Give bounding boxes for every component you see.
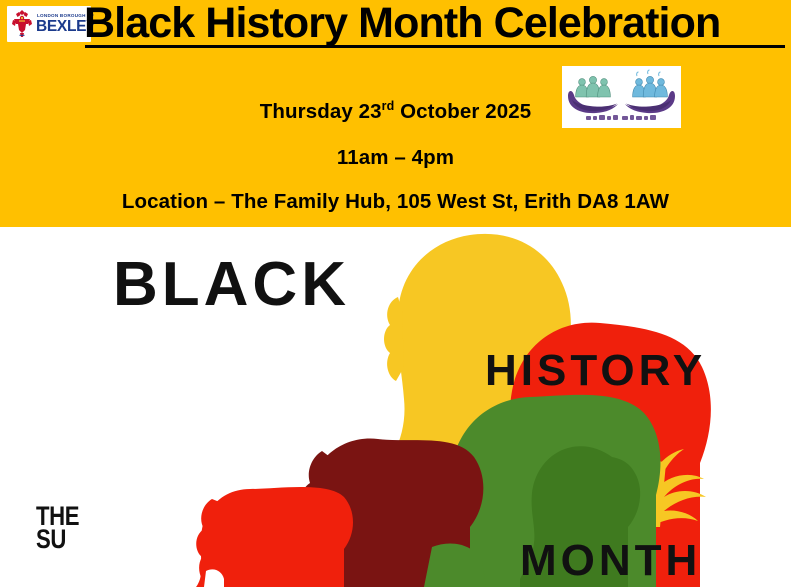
the-su-logo: THE SU (36, 505, 79, 551)
page-title: Black History Month Celebration (84, 0, 790, 50)
bexley-crest-icon (10, 8, 34, 40)
artwork-word-black: BLACK (113, 250, 350, 319)
london-borough-of-bexley-logo: LONDON BOROUGH OF BEXLEY (7, 6, 91, 42)
black-history-month-poster: BLACK HISTORY MONTH (0, 227, 791, 587)
artwork-word-history: HISTORY (485, 346, 706, 395)
event-date-day: Thursday 23 (260, 100, 382, 123)
poster-page: LONDON BOROUGH OF BEXLEY Black History M… (0, 0, 791, 587)
event-location: Location – The Family Hub, 105 West St, … (0, 190, 791, 214)
event-date-month-year: October 2025 (394, 100, 531, 123)
title-underline (85, 45, 785, 48)
poster-illustration: BLACK HISTORY MONTH (0, 227, 791, 587)
cradling-hands-community-logo (562, 66, 681, 128)
event-date-ordinal: rd (382, 99, 395, 113)
header-banner: LONDON BOROUGH OF BEXLEY Black History M… (0, 0, 791, 227)
artwork-word-month: MONTH (520, 536, 701, 585)
the-su-line2: SU (36, 528, 79, 551)
event-time: 11am – 4pm (0, 146, 791, 170)
